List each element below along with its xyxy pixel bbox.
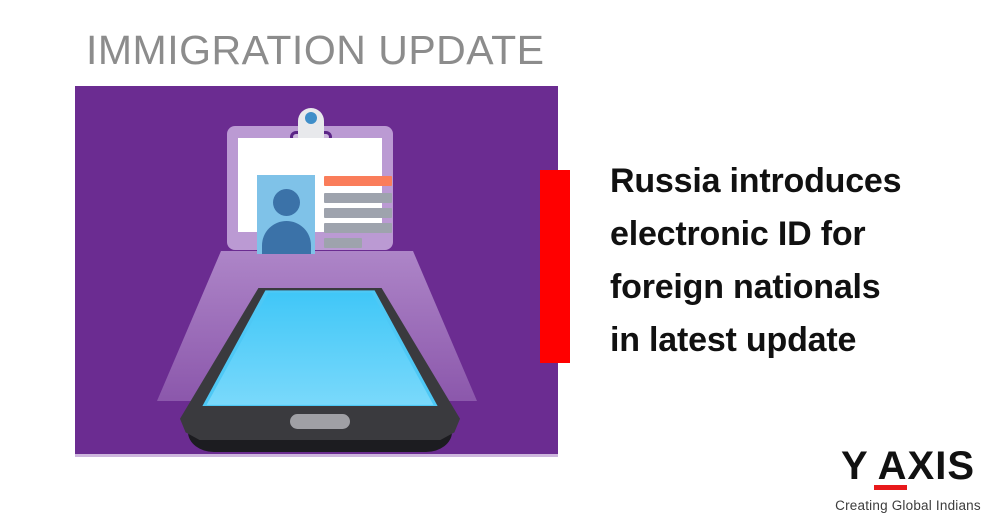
id-card-face (238, 138, 382, 232)
headline-line-3: foreign nationals (610, 261, 970, 314)
y-axis-logo[interactable]: YAXIS Creating Global Indians (832, 446, 984, 513)
id-card-illustration (227, 108, 393, 250)
headline-line-1: Russia introduces (610, 155, 970, 208)
id-card-field-bar-orange (324, 176, 392, 186)
id-card-clip-dot-icon (305, 112, 317, 124)
smartphone-illustration (180, 288, 460, 453)
headline-line-4: in latest update (610, 314, 970, 367)
id-card-field-bar-3 (324, 223, 392, 233)
illustration-panel (75, 86, 558, 457)
id-card-field-bar-2 (324, 208, 392, 218)
immigration-update-banner: IMMIGRATION UPDATE (0, 0, 1000, 524)
avatar-head-icon (273, 189, 300, 216)
avatar-body-icon (262, 221, 311, 254)
id-card-field-bar-1 (324, 193, 392, 203)
logo-word-axis: AXIS (878, 444, 975, 488)
id-card-field-bar-4 (324, 238, 362, 248)
phone-screen-glow (180, 288, 460, 406)
red-accent-bar (540, 170, 570, 363)
kicker-title: IMMIGRATION UPDATE (86, 30, 544, 71)
logo-tagline: Creating Global Indians (832, 498, 984, 513)
logo-letter-y: Y (841, 444, 878, 488)
headline-line-2: electronic ID for (610, 208, 970, 261)
id-card-photo (257, 175, 315, 254)
logo-red-underline (874, 485, 907, 490)
headline: Russia introduces electronic ID for fore… (610, 155, 970, 367)
logo-wordmark: YAXIS (832, 446, 984, 486)
phone-home-button-icon (290, 414, 350, 429)
